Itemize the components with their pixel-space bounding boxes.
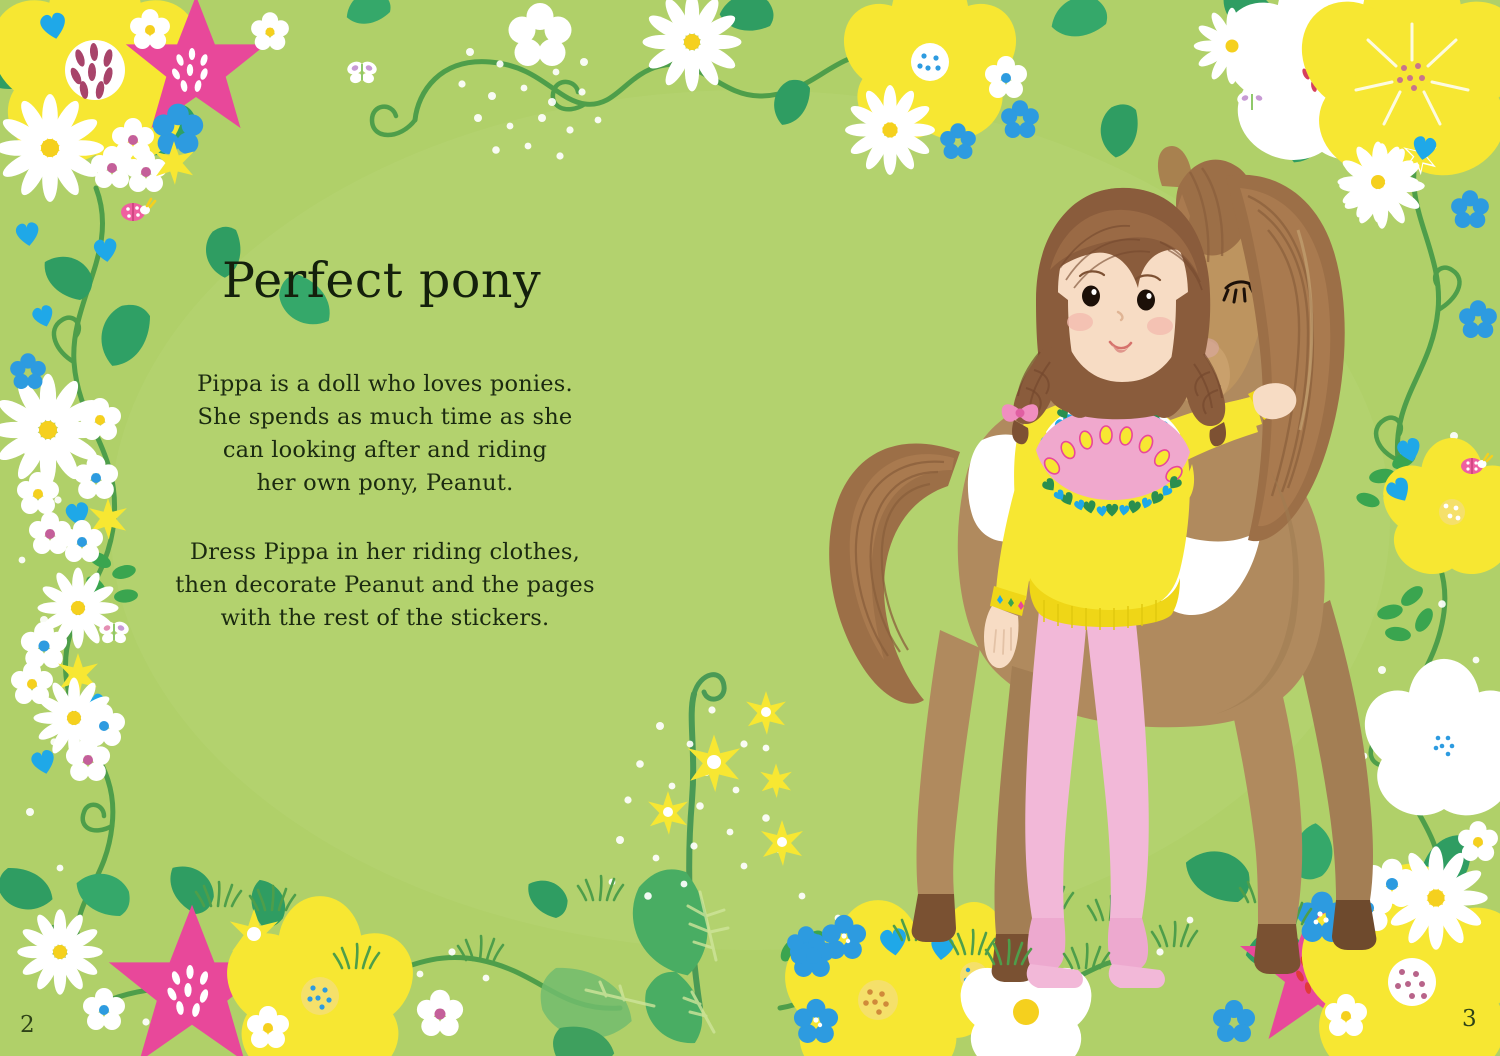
paragraph1-line: Pippa is a doll who loves ponies. — [150, 368, 620, 401]
right-eye — [1137, 290, 1155, 311]
page-number-left: 2 — [20, 1012, 35, 1038]
paragraph1-line: can looking after and riding — [150, 434, 620, 467]
left-eye — [1082, 286, 1100, 307]
instruction-paragraph: Dress Pippa in her riding clothes, then … — [150, 536, 620, 635]
paragraph2-line: Dress Pippa in her riding clothes, — [150, 536, 620, 569]
intro-paragraph: Pippa is a doll who loves ponies. She sp… — [150, 368, 620, 500]
text-column: Perfect pony Pippa is a doll who loves p… — [150, 255, 620, 635]
page-title: Perfect pony — [156, 255, 620, 306]
paragraph2-line: then decorate Peanut and the pages — [150, 569, 620, 602]
paragraph1-line: She spends as much time as she — [150, 401, 620, 434]
book-spread: Perfect pony Pippa is a doll who loves p… — [0, 0, 1500, 1056]
paragraph1-line: her own pony, Peanut. — [150, 467, 620, 500]
paragraph2-line: with the rest of the stickers. — [150, 602, 620, 635]
page-number-right: 3 — [1462, 1006, 1477, 1032]
